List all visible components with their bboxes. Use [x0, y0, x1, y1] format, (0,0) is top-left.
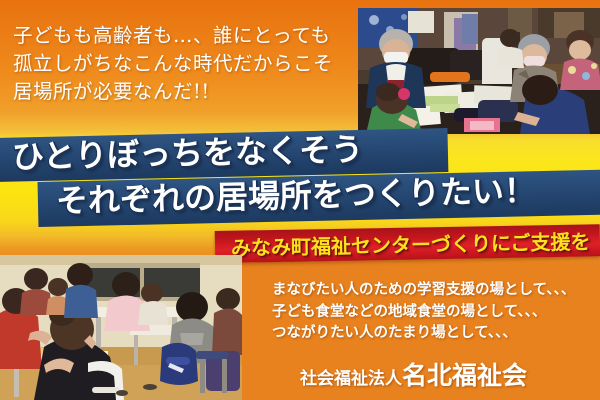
organization-prefix: 社会福祉法人 — [300, 369, 402, 389]
organization-name: 社会福祉法人名北福祉会 — [300, 356, 527, 392]
photo-community-cafeteria — [0, 255, 242, 400]
lead-line-1: 子どもも高齢者も…、誰にとっても — [13, 22, 353, 49]
headline-group: ひとりぼっちをなくそう それぞれの居場所をつくりたい！ — [0, 132, 600, 240]
lead-line-3: 居場所が必要なんだ!! — [13, 78, 353, 105]
photo-learning-support — [358, 8, 600, 134]
poster-canvas: 子どもも高齢者も…、誰にとっても 孤立しがちなこんな時代だからこそ 居場所が必要… — [0, 0, 600, 400]
headline-line-1: ひとりぼっちをなくそう — [12, 127, 364, 179]
bullet-line-1: まなびたい人のための学習支援の場として、、、 — [272, 280, 600, 302]
photo-community-cafeteria-image — [0, 255, 242, 400]
photo-learning-support-image — [358, 8, 600, 134]
lead-line-2: 孤立しがちなこんな時代だからこそ — [13, 50, 353, 77]
organization-title: 名北福祉会 — [402, 361, 527, 390]
bullet-line-3: つながりたい人のたまり場として、、、 — [272, 323, 600, 345]
bullet-copy: まなびたい人のための学習支援の場として、、、 子ども食堂などの地域食堂の場として… — [272, 280, 600, 345]
lead-copy: 子どもも高齢者も…、誰にとっても 孤立しがちなこんな時代だからこそ 居場所が必要… — [13, 22, 353, 106]
bullet-line-2: 子ども食堂などの地域食堂の場として、、、 — [272, 302, 600, 324]
